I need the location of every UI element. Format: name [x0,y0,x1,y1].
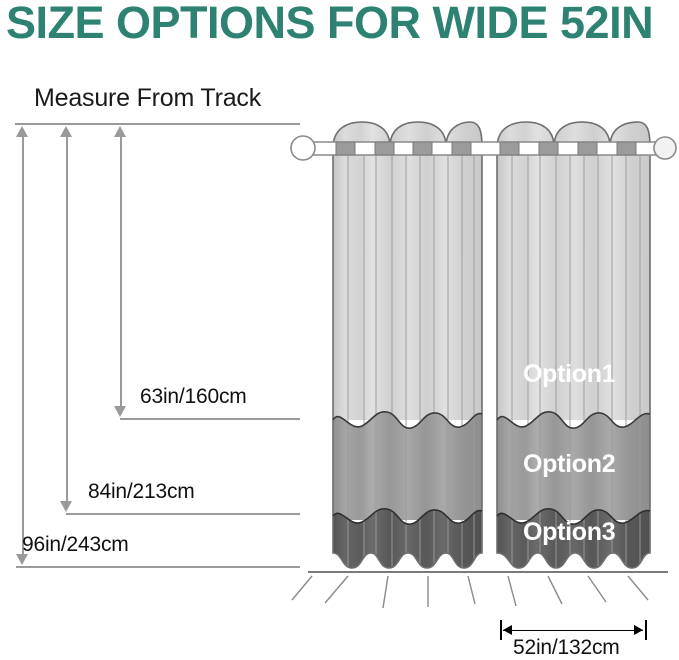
track-reference-line [15,123,300,125]
option3-label: Option3 [523,518,615,547]
curtain-illustration [0,0,679,660]
floor [292,572,668,608]
curtain-panel-left [333,118,485,575]
width-arrow-left [503,625,512,635]
width-tick-right [645,620,647,640]
dim-84in-vline [66,134,68,507]
dim-63in-label: 63in/160cm [140,385,247,409]
dim-84in-arrow-down [60,501,72,512]
dim-96in-label: 96in/243cm [22,533,129,557]
size-options-diagram: SIZE OPTIONS FOR WIDE 52IN Measure From … [0,0,679,660]
dim-63in-arrow-down [114,406,126,417]
dim-84in-hline [66,513,300,515]
dim-63in-vline [120,134,122,412]
option1-label: Option1 [523,360,615,389]
dim-96in-vline [22,134,24,560]
width-tick-left [500,620,502,640]
dim-63in-hline [120,418,300,420]
width-dimension-label: 52in/132cm [513,636,620,660]
curtain-panel-right [497,118,653,575]
width-arrow-right [634,625,643,635]
dim-96in-hline [16,566,300,568]
rod-finial-left [291,136,315,160]
width-dimension-line [503,630,643,631]
option2-label: Option2 [523,450,615,479]
dim-84in-label: 84in/213cm [88,480,195,504]
rod-finial-right [654,137,676,159]
